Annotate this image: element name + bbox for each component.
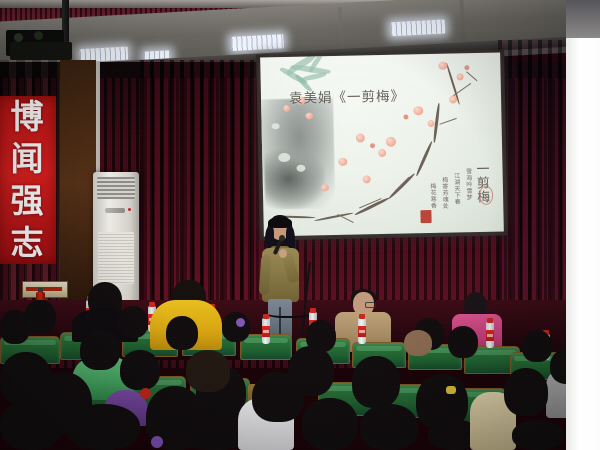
ac-indicator-light <box>128 208 131 211</box>
microphone-cable <box>262 300 316 318</box>
wall-banner: 博 闻 强 志 <box>0 96 56 264</box>
audience-head <box>222 312 250 342</box>
right-edge-top <box>566 0 600 40</box>
audience-head <box>522 330 552 362</box>
audience-head <box>166 316 198 350</box>
calligraphy-line-1: 雪海吟雪梦 <box>464 168 474 201</box>
audience-head <box>448 326 478 358</box>
banner-char-4: 志 <box>0 224 56 262</box>
hair-clip-red <box>140 388 151 399</box>
calligraphy-line-3: 梅寄芳魂处 <box>440 177 450 210</box>
plum-bud-1 <box>370 143 375 148</box>
water-bottle <box>486 322 494 348</box>
water-bottle <box>358 318 366 344</box>
calligraphy-line-4: 梅花寒香 <box>428 183 438 209</box>
calligraphy-block: 一剪梅 雪海吟雪梦 江湖天下春 梅寄芳魂处 梅花寒香 <box>398 160 495 228</box>
eyeglasses <box>365 302 376 308</box>
photo-scene: 博 闻 强 志 <box>0 0 600 450</box>
audience-head <box>120 350 160 390</box>
hair-clip-purple <box>151 436 163 448</box>
wall-plaque <box>22 281 68 298</box>
plum-blossom-2 <box>457 73 464 80</box>
water-bottle <box>262 318 270 344</box>
ac-grille <box>97 177 135 199</box>
audience-head <box>360 404 418 450</box>
audience-head <box>0 400 62 450</box>
speaker-hand <box>279 249 287 258</box>
audience-head <box>118 306 148 338</box>
audience-head <box>352 356 400 408</box>
audience-head <box>66 404 140 450</box>
banner-char-3: 强 <box>0 182 56 220</box>
audience-head <box>512 420 564 450</box>
audience-head <box>288 346 334 396</box>
calligraphy-line-2: 江湖天下春 <box>452 172 462 205</box>
audience-head <box>186 350 230 392</box>
ink-rock-lower <box>264 148 325 209</box>
equipment-knob-1 <box>14 33 23 42</box>
microphone-head <box>279 235 285 241</box>
wood-wall-panel-dark <box>60 60 96 308</box>
banner-char-2: 闻 <box>0 140 56 178</box>
audience-head <box>302 398 358 450</box>
plum-blossom-5 <box>427 120 434 127</box>
equipment-knob-2 <box>34 31 43 40</box>
air-conditioner-unit <box>93 172 139 300</box>
hair-clip-purple-2 <box>236 318 245 327</box>
ac-brand-badge <box>105 208 125 213</box>
projection-screen: 袁美娟《一剪梅》 一剪梅 雪海吟雪梦 江湖天下春 梅寄芳魂处 梅花寒香 <box>260 53 504 237</box>
audience-head <box>504 368 548 416</box>
red-seal-stamp <box>420 210 431 223</box>
ceiling-light-panel-2 <box>231 34 284 51</box>
right-edge-overexposed-wall <box>566 38 600 450</box>
audience-head-bald <box>404 330 432 356</box>
banner-char-1: 博 <box>0 98 56 136</box>
slide-title-text: 袁美娟《一剪梅》 <box>289 85 405 107</box>
audience-head <box>0 310 30 344</box>
plum-bud-2 <box>403 114 408 119</box>
ceiling-light-panel-3 <box>391 19 446 36</box>
plum-bud-3 <box>464 65 469 70</box>
audience-head <box>80 330 120 370</box>
ceiling-projector <box>10 42 72 60</box>
hair-clip-yellow <box>446 386 456 394</box>
ac-lower-vent <box>98 232 134 284</box>
